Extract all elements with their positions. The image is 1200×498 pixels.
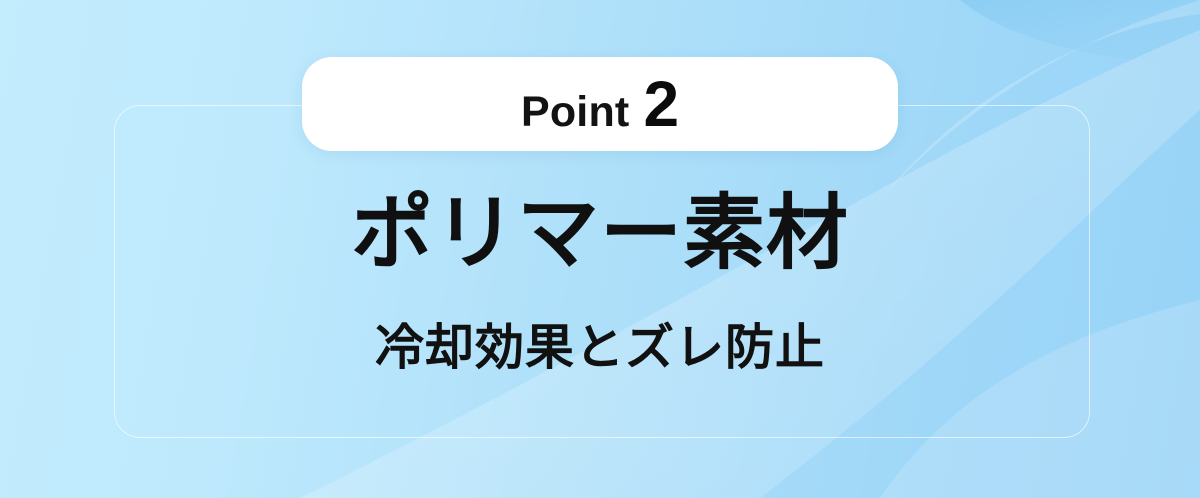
point-badge-content: Point 2 [521,72,679,136]
point-badge-word: Point [521,91,629,134]
point-badge-number: 2 [643,72,679,136]
swoosh-thin-highlight [880,0,1200,200]
swoosh-top-dark [960,0,1200,66]
point-badge: Point 2 [302,57,898,151]
subheadline-text: 冷却効果とズレ防止 [0,322,1200,376]
point-banner: Point 2 ポリマー素材 冷却効果とズレ防止 [0,0,1200,498]
headline-title: ポリマー素材 [0,193,1200,275]
